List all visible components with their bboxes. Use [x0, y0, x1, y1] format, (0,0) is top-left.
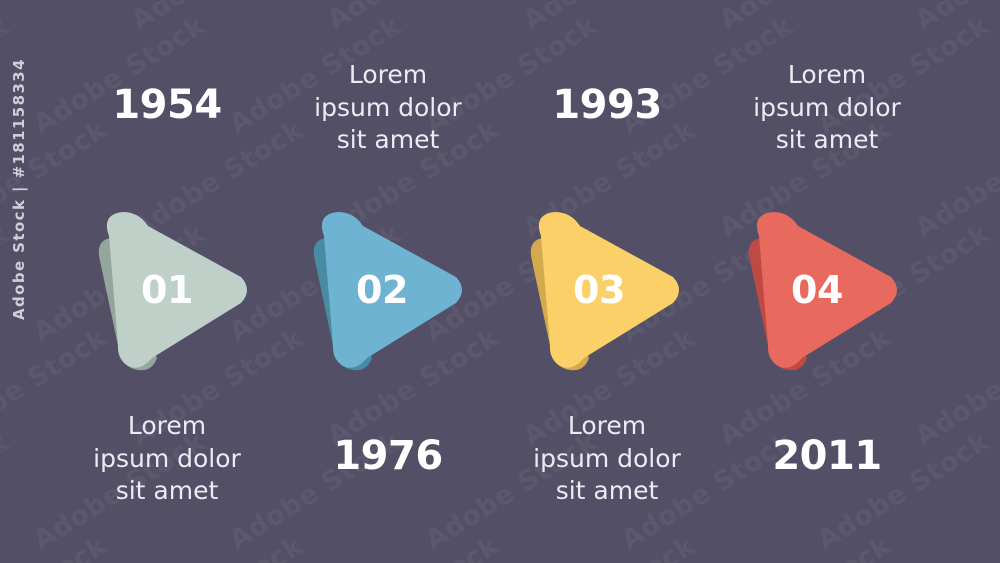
label-group: 1954Lorem ipsum dolor sit amet1976Lorem … [0, 0, 1000, 563]
year-label-1976: 1976 [268, 435, 508, 477]
year-label-1993: 1993 [487, 84, 727, 126]
description-label-03: Lorem ipsum dolor sit amet [487, 410, 727, 508]
description-label-01: Lorem ipsum dolor sit amet [47, 410, 287, 508]
infographic-canvas: Adobe StockAdobe StockAdobe StockAdobe S… [0, 0, 1000, 563]
stock-credit-label: Adobe Stock | #181158334 [10, 58, 28, 320]
year-label-1954: 1954 [47, 84, 287, 126]
year-label-2011: 2011 [707, 435, 947, 477]
description-label-04: Lorem ipsum dolor sit amet [707, 59, 947, 157]
description-label-02: Lorem ipsum dolor sit amet [268, 59, 508, 157]
